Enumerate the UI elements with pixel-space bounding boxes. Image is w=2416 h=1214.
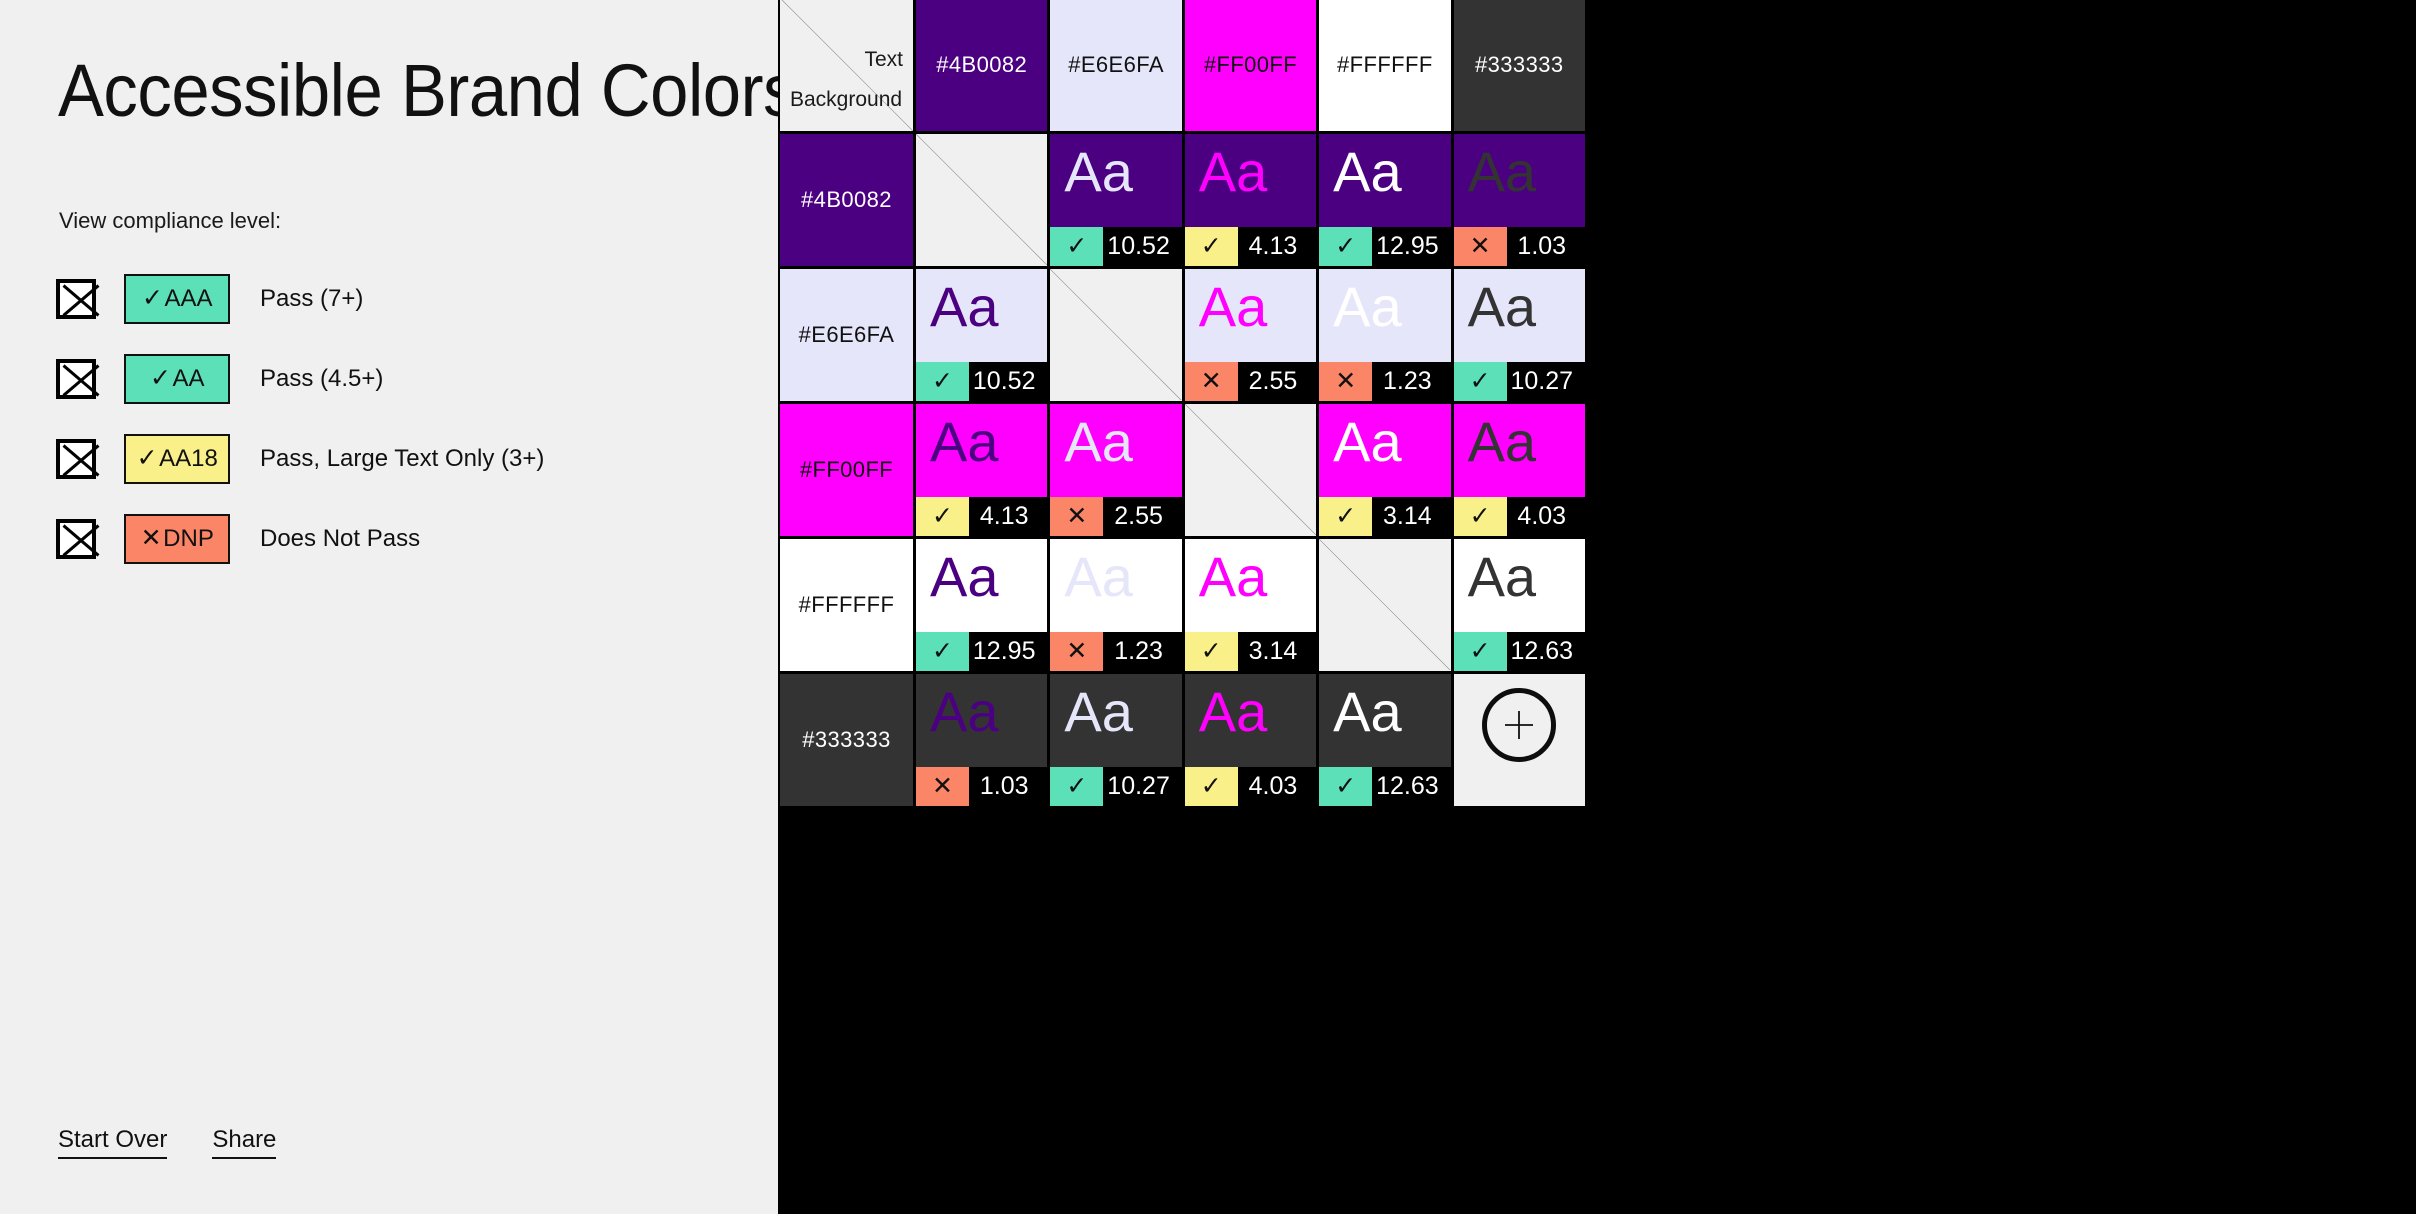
check-icon: ✓	[1319, 227, 1372, 266]
cell-result-bar: ✓10.52	[916, 362, 1047, 401]
cross-icon: ✕	[1050, 632, 1103, 671]
row-header-label: #4B0082	[801, 187, 892, 213]
cell-result-bar: ✓3.14	[1319, 497, 1450, 536]
matrix-cell-same-color	[916, 134, 1047, 266]
contrast-ratio-value: 1.23	[1103, 632, 1181, 671]
legend-code: DNP	[163, 525, 214, 553]
matrix-cell[interactable]: Aa✓10.52	[1050, 134, 1181, 266]
matrix-cell[interactable]: Aa✓4.03	[1185, 674, 1316, 806]
legend-row: ✓AAPass (4.5+)	[56, 352, 544, 405]
column-header-label: #4B0082	[936, 52, 1027, 78]
footer-links: Start OverShare	[58, 1126, 276, 1159]
share-link[interactable]: Share	[212, 1126, 276, 1159]
contrast-ratio-value: 2.55	[1103, 497, 1181, 536]
check-icon: ✓	[1185, 227, 1238, 266]
contrast-ratio-value: 12.63	[1507, 632, 1585, 671]
legend-code: AA18	[159, 445, 218, 473]
contrast-ratio-value: 12.95	[969, 632, 1047, 671]
contrast-ratio-value: 4.03	[1238, 767, 1316, 806]
column-header-ffffff[interactable]: #FFFFFF	[1319, 0, 1450, 131]
legend-swatch-dnp[interactable]: ✕DNP	[124, 514, 230, 564]
contrast-ratio-value: 1.23	[1372, 362, 1450, 401]
cell-result-bar: ✕2.55	[1185, 362, 1316, 401]
page-title: Accessible Brand Colors	[58, 48, 797, 133]
check-icon: ✓	[1185, 767, 1238, 806]
toggle-aa[interactable]	[56, 359, 96, 399]
sample-text: Aa	[1064, 410, 1133, 474]
contrast-ratio-value: 12.95	[1372, 227, 1450, 266]
axis-label-text: Text	[864, 48, 903, 72]
toggle-aaa[interactable]	[56, 279, 96, 319]
check-icon: ✓	[1050, 767, 1103, 806]
sample-text: Aa	[930, 275, 999, 339]
check-icon: ✓	[1454, 362, 1507, 401]
matrix-cell[interactable]: Aa✕1.03	[916, 674, 1047, 806]
matrix-cell[interactable]: Aa✓12.63	[1454, 539, 1585, 671]
sample-text: Aa	[930, 545, 999, 609]
matrix-cell[interactable]: Aa✕2.55	[1185, 269, 1316, 401]
sample-text: Aa	[1064, 140, 1133, 204]
cell-result-bar: ✓10.27	[1050, 767, 1181, 806]
check-icon: ✓	[916, 632, 969, 671]
color-matrix: TextBackground#4B0082#E6E6FA#FF00FF#FFFF…	[780, 0, 2414, 806]
cell-result-bar: ✓4.13	[1185, 227, 1316, 266]
matrix-cell[interactable]: Aa✓12.95	[1319, 134, 1450, 266]
column-header-ff00ff[interactable]: #FF00FF	[1185, 0, 1316, 131]
contrast-ratio-value: 4.13	[969, 497, 1047, 536]
sample-text: Aa	[1199, 275, 1268, 339]
cell-result-bar: ✕1.23	[1050, 632, 1181, 671]
contrast-ratio-value: 10.52	[1103, 227, 1181, 266]
matrix-cell-same-color	[1319, 539, 1450, 671]
legend-description: Pass, Large Text Only (3+)	[260, 445, 544, 473]
contrast-ratio-value: 12.63	[1372, 767, 1450, 806]
add-color-cell	[1454, 674, 1585, 806]
toggle-aa18[interactable]	[56, 439, 96, 479]
matrix-cell[interactable]: Aa✕1.23	[1319, 269, 1450, 401]
cell-result-bar: ✕1.23	[1319, 362, 1450, 401]
row-header-333333[interactable]: #333333	[780, 674, 913, 806]
contrast-ratio-value: 10.27	[1507, 362, 1585, 401]
contrast-ratio-value: 2.55	[1238, 362, 1316, 401]
row-header-label: #333333	[802, 727, 890, 753]
legend-swatch-aa18[interactable]: ✓AA18	[124, 434, 230, 484]
row-header-4b0082[interactable]: #4B0082	[780, 134, 913, 266]
column-header-label: #E6E6FA	[1068, 52, 1164, 78]
matrix-cell[interactable]: Aa✓3.14	[1319, 404, 1450, 536]
cell-result-bar: ✓12.95	[1319, 227, 1450, 266]
matrix-cell-same-color	[1050, 269, 1181, 401]
cell-result-bar: ✓3.14	[1185, 632, 1316, 671]
matrix-cell[interactable]: Aa✓3.14	[1185, 539, 1316, 671]
check-icon: ✓	[1319, 767, 1372, 806]
legend-heading: View compliance level:	[59, 208, 281, 234]
row-header-label: #E6E6FA	[799, 322, 895, 348]
row-header-label: #FF00FF	[800, 457, 893, 483]
column-header-label: #333333	[1475, 52, 1563, 78]
check-icon: ✓	[149, 366, 171, 391]
check-icon: ✓	[1050, 227, 1103, 266]
legend-swatch-aa[interactable]: ✓AA	[124, 354, 230, 404]
sample-text: Aa	[1468, 545, 1537, 609]
matrix-cell[interactable]: Aa✓12.95	[916, 539, 1047, 671]
contrast-ratio-value: 3.14	[1372, 497, 1450, 536]
start-over-link[interactable]: Start Over	[58, 1126, 167, 1159]
sample-text: Aa	[1333, 680, 1402, 744]
matrix-cell[interactable]: Aa✓10.52	[916, 269, 1047, 401]
column-header-e6e6fa[interactable]: #E6E6FA	[1050, 0, 1181, 131]
legend-code: AAA	[164, 285, 212, 313]
check-icon: ✓	[136, 446, 158, 471]
legend-code: AA	[172, 365, 204, 393]
cross-icon: ✕	[140, 526, 162, 551]
sample-text: Aa	[1333, 410, 1402, 474]
toggle-dnp[interactable]	[56, 519, 96, 559]
matrix-cell[interactable]: Aa✓10.27	[1050, 674, 1181, 806]
cross-icon: ✕	[1050, 497, 1103, 536]
cell-result-bar: ✕1.03	[1454, 227, 1585, 266]
sample-text: Aa	[1064, 680, 1133, 744]
legend-description: Does Not Pass	[260, 525, 420, 553]
cell-result-bar: ✓12.63	[1454, 632, 1585, 671]
column-header-label: #FFFFFF	[1337, 52, 1433, 78]
cell-result-bar: ✓10.27	[1454, 362, 1585, 401]
cell-result-bar: ✓10.52	[1050, 227, 1181, 266]
row-header-ff00ff[interactable]: #FF00FF	[780, 404, 913, 536]
left-panel: Accessible Brand Colors View compliance …	[0, 0, 778, 1214]
sample-text: Aa	[1468, 410, 1537, 474]
legend-row: ✓AAAPass (7+)	[56, 272, 544, 325]
cell-result-bar: ✕1.03	[916, 767, 1047, 806]
check-icon: ✓	[916, 497, 969, 536]
sample-text: Aa	[1333, 140, 1402, 204]
contrast-ratio-value: 4.13	[1238, 227, 1316, 266]
column-header-333333[interactable]: #333333	[1454, 0, 1585, 131]
row-header-ffffff[interactable]: #FFFFFF	[780, 539, 913, 671]
axis-label-background: Background	[790, 88, 902, 112]
cross-icon: ✕	[1319, 362, 1372, 401]
legend-swatch-aaa[interactable]: ✓AAA	[124, 274, 230, 324]
legend-description: Pass (7+)	[260, 285, 363, 313]
contrast-ratio-value: 10.52	[969, 362, 1047, 401]
cross-icon: ✕	[1185, 362, 1238, 401]
matrix-corner-legend: TextBackground	[780, 0, 913, 131]
add-color-button[interactable]	[1482, 688, 1556, 762]
matrix-cell[interactable]: Aa✓4.13	[1185, 134, 1316, 266]
contrast-ratio-value: 1.03	[969, 767, 1047, 806]
check-icon: ✓	[916, 362, 969, 401]
check-icon: ✓	[1454, 497, 1507, 536]
matrix-cell[interactable]: Aa✕1.03	[1454, 134, 1585, 266]
check-icon: ✓	[1185, 632, 1238, 671]
sample-text: Aa	[1199, 545, 1268, 609]
contrast-ratio-value: 1.03	[1507, 227, 1585, 266]
column-header-4b0082[interactable]: #4B0082	[916, 0, 1047, 131]
cross-icon: ✕	[1454, 227, 1507, 266]
sample-text: Aa	[1333, 275, 1402, 339]
matrix-cell-same-color	[1185, 404, 1316, 536]
cell-result-bar: ✓12.95	[916, 632, 1047, 671]
sample-text: Aa	[930, 680, 999, 744]
matrix-cell[interactable]: Aa✓4.03	[1454, 404, 1585, 536]
contrast-ratio-value: 4.03	[1507, 497, 1585, 536]
contrast-ratio-value: 10.27	[1103, 767, 1181, 806]
sample-text: Aa	[930, 410, 999, 474]
sample-text: Aa	[1468, 140, 1537, 204]
cell-result-bar: ✓4.03	[1185, 767, 1316, 806]
sample-text: Aa	[1199, 140, 1268, 204]
legend-row: ✕DNPDoes Not Pass	[56, 512, 544, 565]
cell-result-bar: ✓4.03	[1454, 497, 1585, 536]
row-header-label: #FFFFFF	[799, 592, 895, 618]
matrix-cell[interactable]: Aa✓10.27	[1454, 269, 1585, 401]
cell-result-bar: ✕2.55	[1050, 497, 1181, 536]
row-header-e6e6fa[interactable]: #E6E6FA	[780, 269, 913, 401]
matrix-cell[interactable]: Aa✓4.13	[916, 404, 1047, 536]
legend-description: Pass (4.5+)	[260, 365, 383, 393]
check-icon: ✓	[1319, 497, 1372, 536]
sample-text: Aa	[1468, 275, 1537, 339]
sample-text: Aa	[1064, 545, 1133, 609]
check-icon: ✓	[141, 286, 163, 311]
cell-result-bar: ✓12.63	[1319, 767, 1450, 806]
color-matrix-panel: TextBackground#4B0082#E6E6FA#FF00FF#FFFF…	[778, 0, 2416, 1214]
sample-text: Aa	[1199, 680, 1268, 744]
cross-icon: ✕	[916, 767, 969, 806]
column-header-label: #FF00FF	[1204, 52, 1297, 78]
matrix-cell[interactable]: Aa✓12.63	[1319, 674, 1450, 806]
check-icon: ✓	[1454, 632, 1507, 671]
cell-result-bar: ✓4.13	[916, 497, 1047, 536]
compliance-legend-list: ✓AAAPass (7+)✓AAPass (4.5+)✓AA18Pass, La…	[56, 272, 544, 592]
matrix-cell[interactable]: Aa✕2.55	[1050, 404, 1181, 536]
matrix-cell[interactable]: Aa✕1.23	[1050, 539, 1181, 671]
contrast-ratio-value: 3.14	[1238, 632, 1316, 671]
legend-row: ✓AA18Pass, Large Text Only (3+)	[56, 432, 544, 485]
plus-icon	[1502, 708, 1536, 742]
